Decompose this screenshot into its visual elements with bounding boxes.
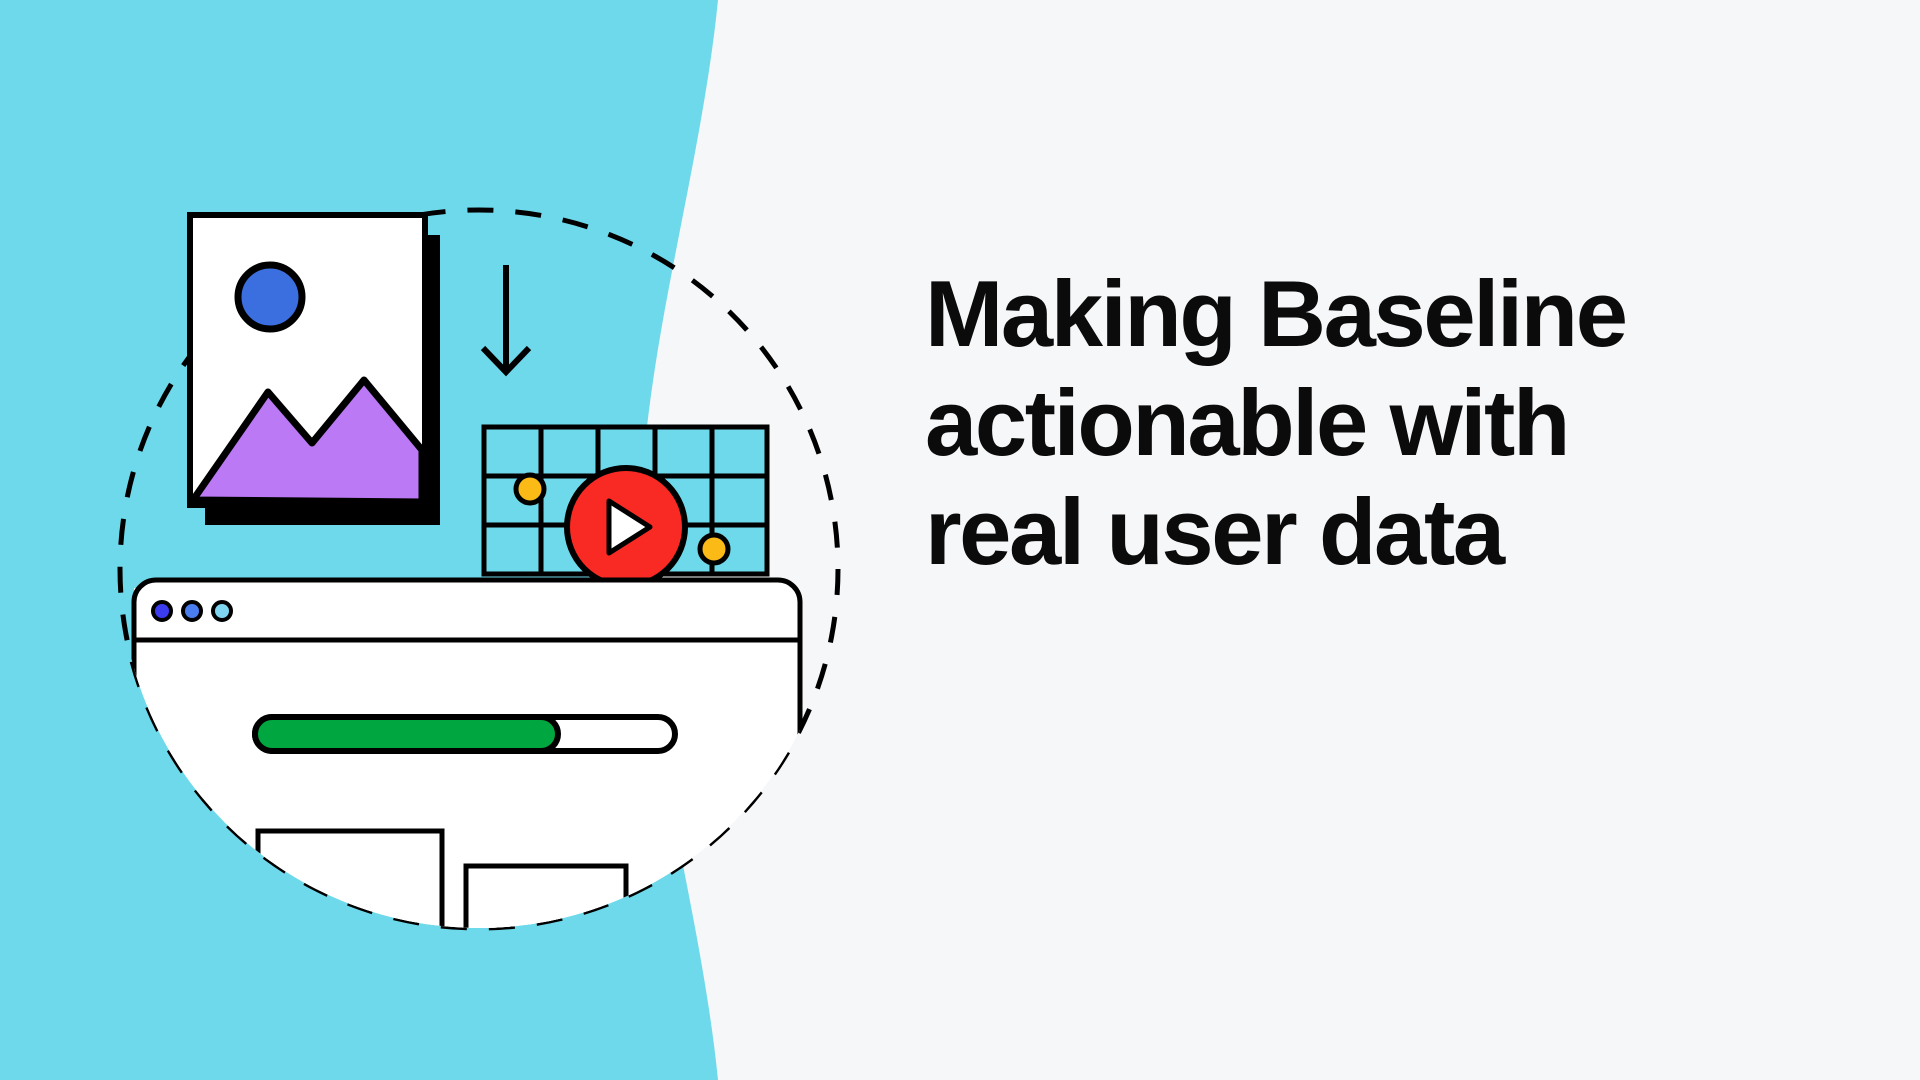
blue-circle-sun-icon [238, 265, 302, 329]
content-block-left [258, 831, 442, 951]
content-block-right [466, 866, 626, 958]
browser-window [134, 580, 800, 1042]
window-dot-2-icon [183, 602, 201, 620]
play-button[interactable] [567, 468, 685, 586]
progress-bar-fill [255, 717, 558, 751]
yellow-dot-right-icon [700, 535, 728, 563]
slide-canvas: Making Baseline actionable with real use… [0, 0, 1920, 1080]
illustration-graphic [0, 0, 900, 1080]
yellow-dot-left-icon [516, 475, 544, 503]
down-arrow-icon [483, 265, 529, 372]
window-dot-1-icon [153, 602, 171, 620]
window-dot-3-icon [213, 602, 231, 620]
page-title: Making Baseline actionable with real use… [925, 259, 1745, 586]
